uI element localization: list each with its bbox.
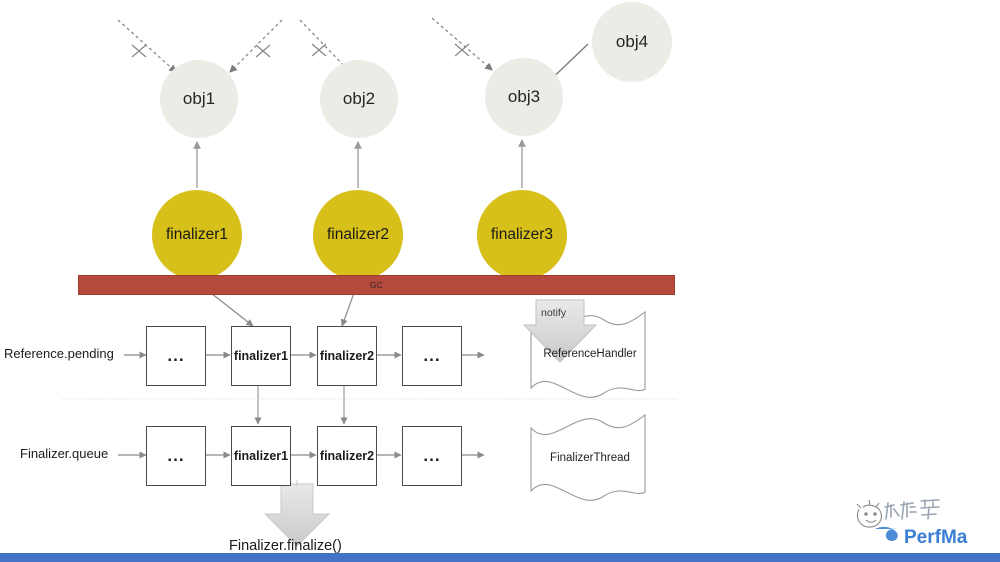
pending-box-0[interactable]: ...	[146, 326, 206, 386]
reference-pending-label: Reference.pending	[4, 346, 114, 361]
slide-root: obj1 obj2 obj3 obj4 finalizer1 finalizer…	[0, 0, 1000, 562]
obj-node-obj3[interactable]: obj3	[485, 58, 563, 136]
finalizer-queue-label: Finalizer.queue	[20, 446, 108, 461]
finalizer-flow-diagram: obj1 obj2 obj3 obj4 finalizer1 finalizer…	[0, 0, 690, 562]
queue-box-1[interactable]: finalizer1	[231, 426, 291, 486]
finalizer-thread-label: FinalizerThread	[538, 452, 642, 464]
finalizer-node-label: finalizer2	[327, 226, 389, 244]
obj-node-label: obj2	[343, 89, 375, 109]
pending-box-3[interactable]: ...	[402, 326, 462, 386]
gc-bar: GC	[78, 275, 675, 295]
obj-node-obj2[interactable]: obj2	[320, 60, 398, 138]
brand-watermark: PerfMa	[855, 495, 995, 549]
perfma-wordmark: PerfMa	[904, 527, 968, 548]
obj-node-obj1[interactable]: obj1	[160, 60, 238, 138]
queue-box-0[interactable]: ...	[146, 426, 206, 486]
obj-node-obj4[interactable]: obj4	[592, 2, 672, 82]
finalizer-node-label: finalizer3	[491, 226, 553, 244]
finalizer-node-2[interactable]: finalizer2	[313, 190, 403, 280]
footer-accent-bar	[0, 553, 1000, 562]
finalizer-node-1[interactable]: finalizer1	[152, 190, 242, 280]
obj-node-label: obj1	[183, 89, 215, 109]
pending-box-1[interactable]: finalizer1	[231, 326, 291, 386]
queue-box-3[interactable]: ...	[402, 426, 462, 486]
reference-handler-label: ReferenceHandler	[538, 348, 642, 360]
slide-text-panel: FinalReference堆积 finalize方法何时被调用 GC发生并找出…	[690, 0, 1000, 562]
notify-label: notify	[541, 307, 566, 319]
gc-bar-label: GC	[370, 280, 384, 290]
finalizer-finalize-label: Finalizer.finalize()	[229, 538, 342, 554]
perfma-logo: PerfMa	[855, 495, 995, 549]
pending-box-2[interactable]: finalizer2	[317, 326, 377, 386]
finalizer-node-label: finalizer1	[166, 226, 228, 244]
obj-node-label: obj3	[508, 87, 540, 107]
queue-box-2[interactable]: finalizer2	[317, 426, 377, 486]
finalizer-node-3[interactable]: finalizer3	[477, 190, 567, 280]
obj-node-label: obj4	[616, 32, 648, 52]
